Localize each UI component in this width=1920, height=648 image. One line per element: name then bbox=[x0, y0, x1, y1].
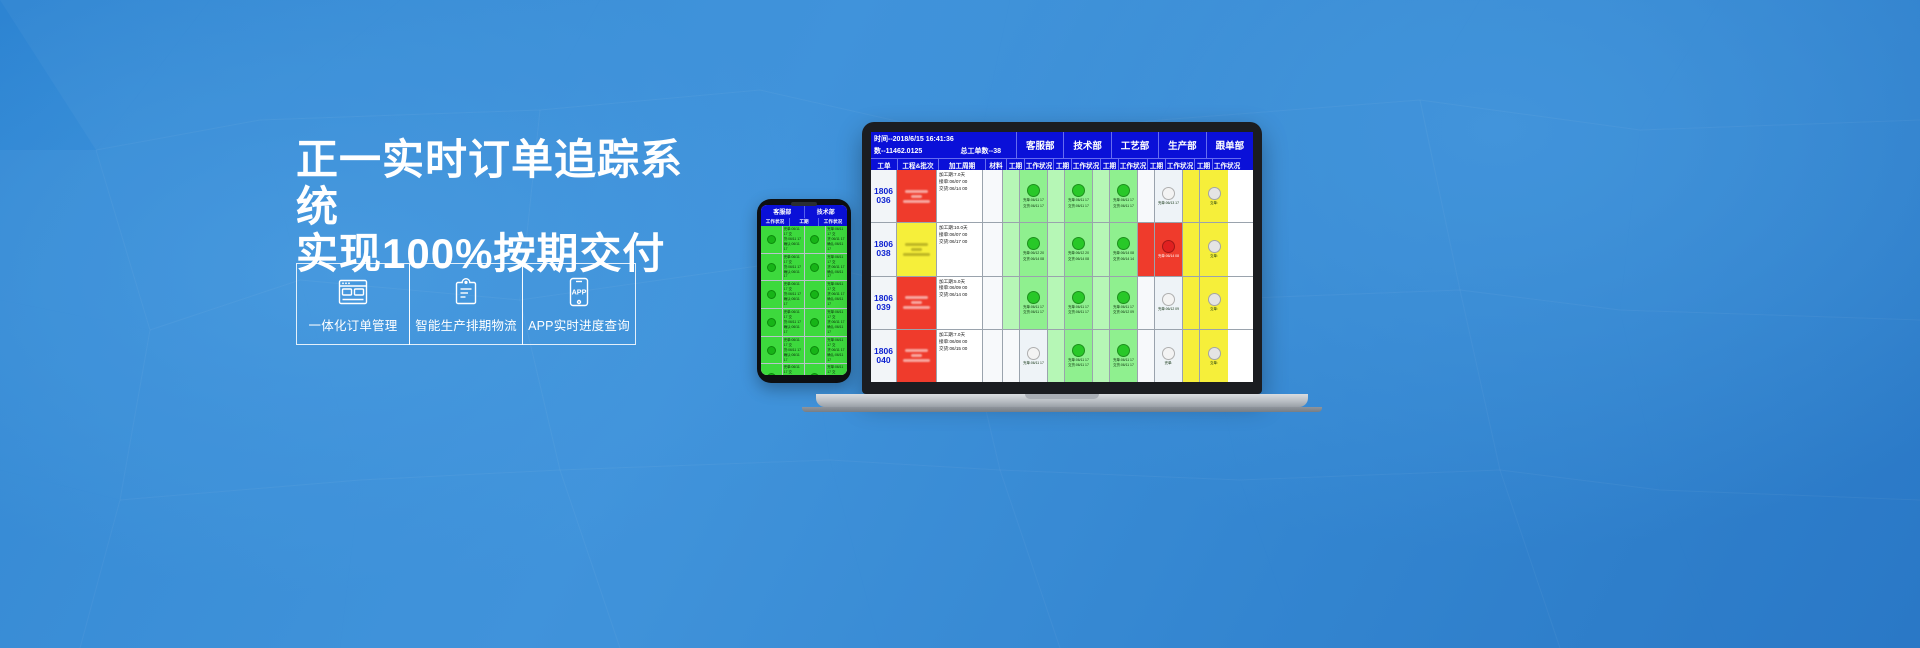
cell-work-order: 1806 039 bbox=[871, 277, 897, 329]
status-note: 交货:06/11 17 bbox=[1020, 204, 1047, 209]
phone-note-cell: 完单:06/11 17 交货:06/11 17 确认:06/11 17 bbox=[826, 309, 847, 337]
phone-column-status-dots bbox=[761, 226, 783, 375]
table-body: 1806 036 加工期:7.0天 接单:06/07 00 交货:06/14 0… bbox=[871, 170, 1253, 382]
phone-subcol-status-2: 工作状况 bbox=[819, 218, 847, 226]
phone-note-cell: 完单:06/11 17 交货:06/11 17 确认:06/11 17 bbox=[783, 337, 804, 365]
status-dot-pending-icon bbox=[1208, 293, 1221, 306]
phone-department-header: 客服部 技术部 bbox=[761, 205, 847, 218]
column-header-duration-tech: 工期 bbox=[1054, 158, 1072, 170]
cell-duration-merch bbox=[1183, 223, 1200, 275]
column-header-duration-merch: 工期 bbox=[1195, 158, 1213, 170]
phone-screen[interactable]: 客服部 技术部 工作状况 工期 工作状况 完单:06/11 17 交货:0 bbox=[761, 205, 847, 375]
status-note: 完单:06/12 09 bbox=[1155, 307, 1182, 312]
dashboard-window-icon bbox=[338, 274, 368, 310]
headline-line-1: 正一实时订单追踪系统 bbox=[296, 136, 716, 230]
column-header-duration-proc: 工期 bbox=[1101, 158, 1119, 170]
phone-status-cell[interactable] bbox=[761, 281, 782, 309]
phone-status-cell[interactable] bbox=[805, 309, 826, 337]
phone-status-cell[interactable] bbox=[805, 281, 826, 309]
phone-note-cell: 完单:06/11 17 交货:06/11 17 确认:06/11 17 bbox=[783, 309, 804, 337]
phone-status-cell[interactable] bbox=[805, 254, 826, 282]
department-header-technical: 技术部 bbox=[1064, 132, 1111, 158]
status-dot-green-icon bbox=[767, 235, 776, 244]
feature-box-app-progress[interactable]: APP APP实时进度查询 bbox=[522, 263, 636, 345]
status-note: 交单: bbox=[1200, 254, 1228, 259]
status-dot-white-icon bbox=[1162, 347, 1175, 360]
cell-status-prod[interactable]: 完单:06/13 17 bbox=[1155, 170, 1183, 222]
promo-banner: 正一实时订单追踪系统 实现100%按期交付 一体化订单管理 bbox=[0, 0, 1920, 648]
laptop-foot bbox=[802, 407, 1322, 412]
phone-status-cell[interactable] bbox=[761, 254, 782, 282]
phone-status-cell[interactable] bbox=[761, 337, 782, 365]
cell-duration-prod bbox=[1138, 223, 1155, 275]
phone-column-notes-2: 完单:06/11 17 交货:06/11 17 确认:06/11 17 完单:0… bbox=[826, 226, 847, 375]
cell-project-batch bbox=[897, 223, 937, 275]
phone-column-status-dots-2 bbox=[805, 226, 827, 375]
phone-note-cell: 完单:06/11 17 交货:06/11 17 确认:06/11 17 bbox=[783, 254, 804, 282]
feature-label-production-scheduling: 智能生产排期物流 bbox=[415, 315, 517, 334]
phone-note-cell: 完单:06/11 17 交货:06/11 17 确认:06/11 17 bbox=[783, 281, 804, 309]
laptop-screen[interactable]: 时间--2018/6/15 16:41:36 数--11462.0125 总工单… bbox=[871, 132, 1253, 382]
cell-duration-tech bbox=[1048, 277, 1065, 329]
status-dot-green-icon bbox=[1072, 237, 1085, 250]
status-note: 交货:06/11 17 bbox=[1065, 363, 1092, 368]
status-note: 交货:06/14 08 bbox=[1065, 257, 1092, 262]
cell-material bbox=[983, 330, 1003, 382]
status-dot-green-icon bbox=[810, 318, 819, 327]
cell-duration-tech bbox=[1048, 330, 1065, 382]
cell-work-order: 1806 040 bbox=[871, 330, 897, 382]
cell-status-tech[interactable]: 完单:06/11 17 交货:06/11 17 bbox=[1065, 170, 1093, 222]
cell-duration-proc bbox=[1093, 277, 1110, 329]
phone-subheader: 工作状况 工期 工作状况 bbox=[761, 218, 847, 226]
table-row[interactable]: 1806 039 加工期:5.0天 接单:06/09 00 交货:06/14 0… bbox=[871, 277, 1253, 330]
status-dot-white-icon bbox=[1027, 347, 1040, 360]
phone-status-cell[interactable] bbox=[761, 309, 782, 337]
table-row[interactable]: 1806 036 加工期:7.0天 接单:06/07 00 交货:06/14 0… bbox=[871, 170, 1253, 223]
status-dot-green-icon bbox=[810, 346, 819, 355]
feature-box-production-scheduling[interactable]: 智能生产排期物流 bbox=[409, 263, 523, 345]
status-note: 交货:06/11 17 bbox=[1110, 204, 1137, 209]
cell-status-prod[interactable]: 完单: bbox=[1155, 330, 1183, 382]
status-note: 完单:06/11 17 bbox=[1065, 198, 1092, 203]
phone-status-cell[interactable] bbox=[805, 226, 826, 254]
cell-processing-cycle: 加工期:7.0天 接单:06/07 00 交货:06/14 00 bbox=[937, 170, 983, 222]
status-dot-green-icon bbox=[1027, 184, 1040, 197]
cell-status-merch[interactable]: 交单: bbox=[1200, 277, 1228, 329]
status-note: 交货:06/11 17 bbox=[1065, 204, 1092, 209]
column-header-material: 材料 bbox=[986, 158, 1007, 170]
phone-note-cell: 完单:06/11 17 交货:06/11 17 确认:06/11 17 bbox=[783, 226, 804, 254]
status-dot-pending-icon bbox=[1208, 347, 1221, 360]
cell-status-merch[interactable]: 交单: bbox=[1200, 330, 1228, 382]
column-header-status-prod: 工作状况 bbox=[1166, 158, 1195, 170]
cell-status-tech[interactable]: 完单:06/12 20 交货:06/14 08 bbox=[1065, 223, 1093, 275]
cell-processing-cycle: 加工期:7.0天 接单:06/08 00 交货:06/15 00 bbox=[937, 330, 983, 382]
cell-duration-tech bbox=[1048, 170, 1065, 222]
mobile-app-icon: APP bbox=[568, 274, 590, 310]
status-note: 完单:06/11 17 bbox=[1110, 198, 1137, 203]
status-dot-green-icon bbox=[1117, 344, 1130, 357]
status-dot-green-icon bbox=[1027, 291, 1040, 304]
status-dot-green-icon bbox=[1117, 184, 1130, 197]
status-note: 交单: bbox=[1200, 361, 1228, 366]
cell-duration-prod bbox=[1138, 170, 1155, 222]
cell-status-cs[interactable]: 完单:06/11 17 bbox=[1020, 330, 1048, 382]
laptop-lid: 时间--2018/6/15 16:41:36 数--11462.0125 总工单… bbox=[862, 122, 1262, 394]
status-dot-green-icon bbox=[1027, 237, 1040, 250]
status-dot-white-icon bbox=[1162, 293, 1175, 306]
feature-label-order-management: 一体化订单管理 bbox=[309, 315, 398, 334]
cell-duration-prod bbox=[1138, 277, 1155, 329]
cell-project-batch bbox=[897, 277, 937, 329]
system-count-label: 数--11462.0125 bbox=[874, 146, 922, 156]
status-note: 交货:06/11 17 bbox=[1110, 363, 1137, 368]
column-header-status-cs: 工作状况 bbox=[1025, 158, 1054, 170]
cell-duration-merch bbox=[1183, 330, 1200, 382]
cell-status-proc[interactable]: 完单:06/11 17 交货:06/11 17 bbox=[1110, 170, 1138, 222]
status-note: 完单:06/12 20 bbox=[1020, 251, 1047, 256]
feature-label-app-progress: APP实时进度查询 bbox=[528, 315, 630, 334]
feature-box-order-management[interactable]: 一体化订单管理 bbox=[296, 263, 410, 345]
status-note: 完单:06/14 08 bbox=[1110, 251, 1137, 256]
status-note: 交货:06/11 17 bbox=[1020, 310, 1047, 315]
status-dot-green-icon bbox=[767, 318, 776, 327]
status-dot-green-icon bbox=[767, 373, 776, 375]
status-note: 完单:06/11 17 bbox=[1065, 305, 1092, 310]
status-note: 完单:06/11 17 bbox=[1110, 358, 1137, 363]
cell-status-proc[interactable]: 完单:06/11 17 交货:06/12 09 bbox=[1110, 277, 1138, 329]
cell-status-proc[interactable]: 完单:06/14 08 交货:06/14 14 bbox=[1110, 223, 1138, 275]
cell-duration-cs bbox=[1003, 277, 1020, 329]
status-note: 完单:06/11 17 bbox=[1065, 358, 1092, 363]
system-time-label: 时间--2018/6/15 16:41:36 bbox=[874, 134, 1013, 144]
svg-text:APP: APP bbox=[572, 287, 587, 296]
cell-duration-cs bbox=[1003, 223, 1020, 275]
status-dot-pending-icon bbox=[1208, 187, 1221, 200]
cell-status-merch[interactable]: 交单: bbox=[1200, 170, 1228, 222]
cell-duration-prod bbox=[1138, 330, 1155, 382]
smartphone-mockup: 客服部 技术部 工作状况 工期 工作状况 完单:06/11 17 交货:0 bbox=[757, 199, 851, 383]
cell-duration-cs bbox=[1003, 170, 1020, 222]
cell-status-merch[interactable]: 交单: bbox=[1200, 223, 1228, 275]
cell-status-tech[interactable]: 完单:06/11 17 交货:06/11 17 bbox=[1065, 330, 1093, 382]
status-note: 完单:06/12 20 bbox=[1065, 251, 1092, 256]
phone-status-cell[interactable] bbox=[805, 364, 826, 375]
cell-duration-proc bbox=[1093, 223, 1110, 275]
cell-duration-merch bbox=[1183, 277, 1200, 329]
status-note: 完单:06/11 17 bbox=[1020, 305, 1047, 310]
column-header-processing-cycle: 加工周期 bbox=[939, 158, 986, 170]
cell-project-batch bbox=[897, 330, 937, 382]
cell-project-batch bbox=[897, 170, 937, 222]
table-column-header-row: 工单 工程&批次 加工周期 材料 工期 工作状况 工期 工作状况 工期 工作状况… bbox=[871, 158, 1253, 170]
status-dot-green-icon bbox=[767, 346, 776, 355]
column-header-duration-prod: 工期 bbox=[1148, 158, 1166, 170]
phone-note-cell: 完单:06/11 17 交货:06/11 17 确认:06/11 17 bbox=[826, 226, 847, 254]
status-note: 完单:06/11 17 bbox=[1020, 198, 1047, 203]
cell-work-order: 1806 038 bbox=[871, 223, 897, 275]
clipboard-schedule-icon bbox=[452, 274, 480, 310]
total-orders-label: 总工单数--38 bbox=[961, 146, 1001, 156]
phone-note-cell: 完单:06/11 17 交货:06/11 17 确认:06/11 17 bbox=[826, 364, 847, 375]
cell-status-cs[interactable]: 完单:06/11 17 交货:06/11 17 bbox=[1020, 277, 1048, 329]
cell-status-prod[interactable]: 完单:06/14 08 bbox=[1155, 223, 1183, 275]
department-header-customer-service: 客服部 bbox=[1017, 132, 1064, 158]
column-header-duration-cs: 工期 bbox=[1007, 158, 1025, 170]
cell-status-cs[interactable]: 完单:06/12 20 交货:06/14 08 bbox=[1020, 223, 1048, 275]
cell-status-tech[interactable]: 完单:06/11 17 交货:06/11 17 bbox=[1065, 277, 1093, 329]
column-header-status-tech: 工作状况 bbox=[1072, 158, 1101, 170]
status-note: 交货:06/12 09 bbox=[1110, 310, 1137, 315]
cell-status-prod[interactable]: 完单:06/12 09 bbox=[1155, 277, 1183, 329]
cell-material bbox=[983, 277, 1003, 329]
cell-work-order: 1806 036 bbox=[871, 170, 897, 222]
phone-status-cell[interactable] bbox=[761, 364, 782, 375]
status-dot-red-icon bbox=[1162, 240, 1175, 253]
department-header-production: 生产部 bbox=[1159, 132, 1206, 158]
cell-duration-proc bbox=[1093, 330, 1110, 382]
phone-note-cell: 完单:06/11 17 交货:06/11 17 确认:06/11 17 bbox=[783, 364, 804, 375]
status-dot-green-icon bbox=[1117, 237, 1130, 250]
cell-duration-merch bbox=[1183, 170, 1200, 222]
phone-subcol-duration: 工期 bbox=[790, 218, 819, 226]
table-row[interactable]: 1806 038 加工期:10.0天 接单:06/07 00 交货:06/17 … bbox=[871, 223, 1253, 276]
status-note: 交货:06/14 08 bbox=[1020, 257, 1047, 262]
column-header-work-order: 工单 bbox=[871, 158, 898, 170]
status-dot-green-icon bbox=[810, 235, 819, 244]
status-note: 完单:06/11 17 bbox=[1020, 361, 1047, 366]
status-note: 完单:06/14 08 bbox=[1155, 254, 1182, 259]
status-note: 交单: bbox=[1200, 201, 1228, 206]
cell-material bbox=[983, 170, 1003, 222]
phone-department-customer-service: 客服部 bbox=[761, 205, 805, 218]
table-meta-header: 时间--2018/6/15 16:41:36 数--11462.0125 总工单… bbox=[871, 132, 1017, 158]
phone-note-cell: 完单:06/11 17 交货:06/11 17 确认:06/11 17 bbox=[826, 281, 847, 309]
status-dot-green-icon bbox=[810, 263, 819, 272]
table-top-header: 时间--2018/6/15 16:41:36 数--11462.0125 总工单… bbox=[871, 132, 1253, 158]
phone-status-cell[interactable] bbox=[805, 337, 826, 365]
headline-block: 正一实时订单追踪系统 实现100%按期交付 bbox=[296, 136, 716, 277]
status-note: 完单:06/11 17 bbox=[1110, 305, 1137, 310]
cell-status-proc[interactable]: 完单:06/11 17 交货:06/11 17 bbox=[1110, 330, 1138, 382]
table-row[interactable]: 1806 040 加工期:7.0天 接单:06/08 00 交货:06/15 0… bbox=[871, 330, 1253, 382]
feature-box-group: 一体化订单管理 智能生产排期物流 APP bbox=[296, 263, 636, 345]
status-note: 完单: bbox=[1155, 361, 1182, 366]
status-dot-pending-icon bbox=[1208, 240, 1221, 253]
column-header-project-batch: 工程&批次 bbox=[898, 158, 939, 170]
phone-status-cell[interactable] bbox=[761, 226, 782, 254]
status-dot-white-icon bbox=[1162, 187, 1175, 200]
cell-duration-proc bbox=[1093, 170, 1110, 222]
cell-material bbox=[983, 223, 1003, 275]
phone-table-body: 完单:06/11 17 交货:06/11 17 确认:06/11 17 完单:0… bbox=[761, 226, 847, 375]
status-note: 交货:06/14 14 bbox=[1110, 257, 1137, 262]
phone-note-cell: 完单:06/11 17 交货:06/11 17 确认:06/11 17 bbox=[826, 254, 847, 282]
cell-duration-tech bbox=[1048, 223, 1065, 275]
cell-processing-cycle: 加工期:10.0天 接单:06/07 00 交货:06/17 00 bbox=[937, 223, 983, 275]
laptop-mockup: 时间--2018/6/15 16:41:36 数--11462.0125 总工单… bbox=[862, 122, 1322, 412]
column-header-status-proc: 工作状况 bbox=[1119, 158, 1148, 170]
department-header-merchandising: 跟单部 bbox=[1207, 132, 1253, 158]
status-dot-green-icon bbox=[810, 373, 819, 375]
status-dot-green-icon bbox=[767, 290, 776, 299]
status-dot-green-icon bbox=[1072, 344, 1085, 357]
order-tracking-table: 时间--2018/6/15 16:41:36 数--11462.0125 总工单… bbox=[871, 132, 1253, 382]
laptop-base bbox=[816, 394, 1308, 407]
phone-column-notes-1: 完单:06/11 17 交货:06/11 17 确认:06/11 17 完单:0… bbox=[783, 226, 805, 375]
status-note: 交货:06/11 17 bbox=[1065, 310, 1092, 315]
phone-subcol-status-1: 工作状况 bbox=[761, 218, 790, 226]
cell-processing-cycle: 加工期:5.0天 接单:06/09 00 交货:06/14 00 bbox=[937, 277, 983, 329]
phone-department-technical: 技术部 bbox=[805, 205, 848, 218]
phone-note-cell: 完单:06/11 17 交货:06/11 17 确认:06/11 17 bbox=[826, 337, 847, 365]
status-note: 完单:06/13 17 bbox=[1155, 201, 1182, 206]
cell-status-cs[interactable]: 完单:06/11 17 交货:06/11 17 bbox=[1020, 170, 1048, 222]
column-header-status-merch: 工作状况 bbox=[1213, 158, 1241, 170]
status-dot-green-icon bbox=[1072, 291, 1085, 304]
status-dot-green-icon bbox=[767, 263, 776, 272]
cell-duration-cs bbox=[1003, 330, 1020, 382]
department-header-process: 工艺部 bbox=[1112, 132, 1159, 158]
status-dot-green-icon bbox=[1072, 184, 1085, 197]
status-note: 交单: bbox=[1200, 307, 1228, 312]
status-dot-green-icon bbox=[810, 290, 819, 299]
status-dot-green-icon bbox=[1117, 291, 1130, 304]
